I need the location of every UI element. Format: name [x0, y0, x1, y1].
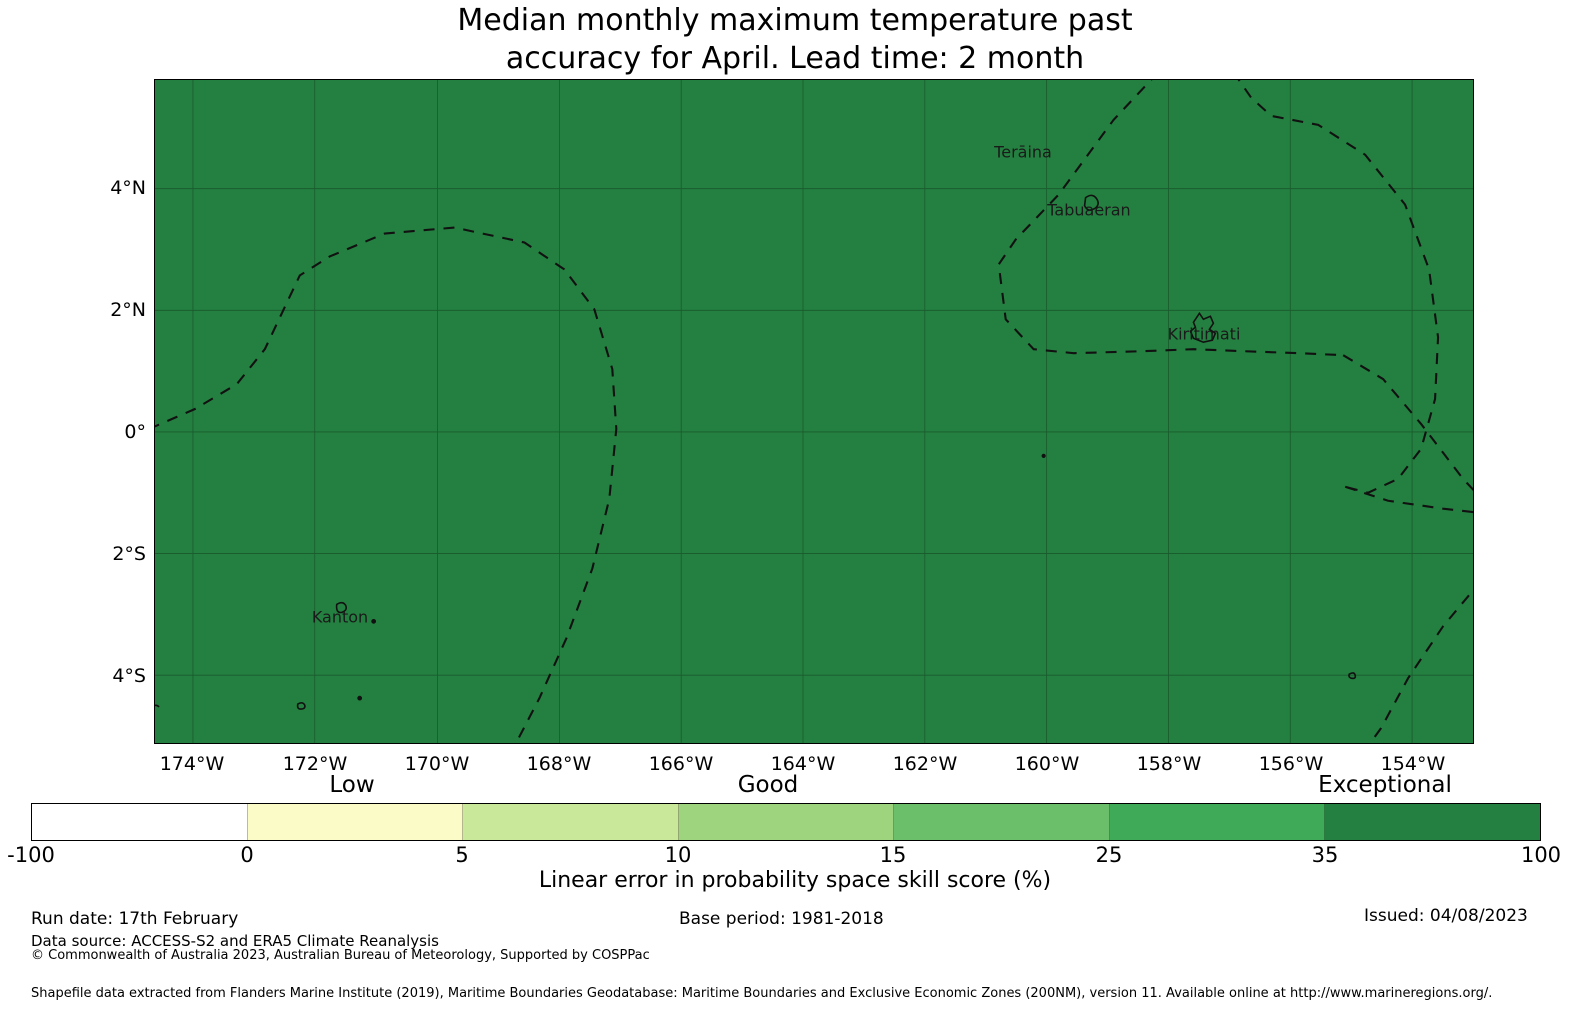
colorbar-category-good: Good	[738, 772, 799, 798]
x-axis-tick: 158°W	[1137, 753, 1202, 775]
x-axis-tick: 170°W	[405, 753, 470, 775]
footer-run-date: Run date: 17th February	[31, 909, 238, 929]
y-axis-tick: 0°	[124, 421, 146, 443]
x-axis-tick: 160°W	[1015, 753, 1080, 775]
map-graphic	[155, 80, 1473, 743]
colorbar-segment-15-25	[894, 804, 1110, 840]
eez-boundary-lines	[155, 80, 1473, 743]
colorbar-segment-10-15	[679, 804, 895, 840]
colorbar-segment-35-100	[1325, 804, 1540, 840]
colorbar-axis-label: Linear error in probability space skill …	[0, 868, 1590, 893]
footer-shapefile-attribution: Shapefile data extracted from Flanders M…	[31, 986, 1492, 1001]
colorbar-category-exceptional: Exceptional	[1318, 772, 1452, 798]
map-plot-area	[154, 79, 1474, 744]
colorbar-tick: 35	[1312, 843, 1339, 867]
map-gridlines	[155, 80, 1473, 743]
x-axis-tick: 156°W	[1259, 753, 1324, 775]
y-axis-tick: 2°S	[112, 543, 146, 565]
colorbar-tick: -100	[7, 843, 55, 867]
x-axis-tick: 166°W	[649, 753, 714, 775]
colorbar-category-low: Low	[329, 772, 374, 798]
y-axis-tick: 4°S	[112, 665, 146, 687]
colorbar-tick: 0	[240, 843, 253, 867]
colorbar-segment-neg100-0	[32, 804, 248, 840]
footer-copyright: © Commonwealth of Australia 2023, Austra…	[31, 948, 650, 963]
x-axis-tick: 168°W	[527, 753, 592, 775]
colorbar-tick: 5	[455, 843, 468, 867]
colorbar-tick: 100	[1521, 843, 1561, 867]
page-title: Median monthly maximum temperature past …	[0, 0, 1590, 78]
x-axis-tick: 162°W	[893, 753, 958, 775]
colorbar-segment-5-10	[463, 804, 679, 840]
y-axis-tick: 2°N	[110, 299, 146, 321]
y-axis-tick: 4°N	[110, 177, 146, 199]
footer-base-period: Base period: 1981-2018	[679, 909, 884, 929]
colorbar-segment-25-35	[1110, 804, 1326, 840]
island-outlines	[155, 195, 1355, 709]
colorbar-tick: 15	[880, 843, 907, 867]
x-axis-tick: 174°W	[160, 753, 225, 775]
colorbar-tick: 10	[665, 843, 692, 867]
colorbar-segment-0-5	[248, 804, 464, 840]
colorbar	[31, 803, 1541, 841]
colorbar-tick: 25	[1096, 843, 1123, 867]
footer-issued: Issued: 04/08/2023	[1364, 906, 1528, 926]
